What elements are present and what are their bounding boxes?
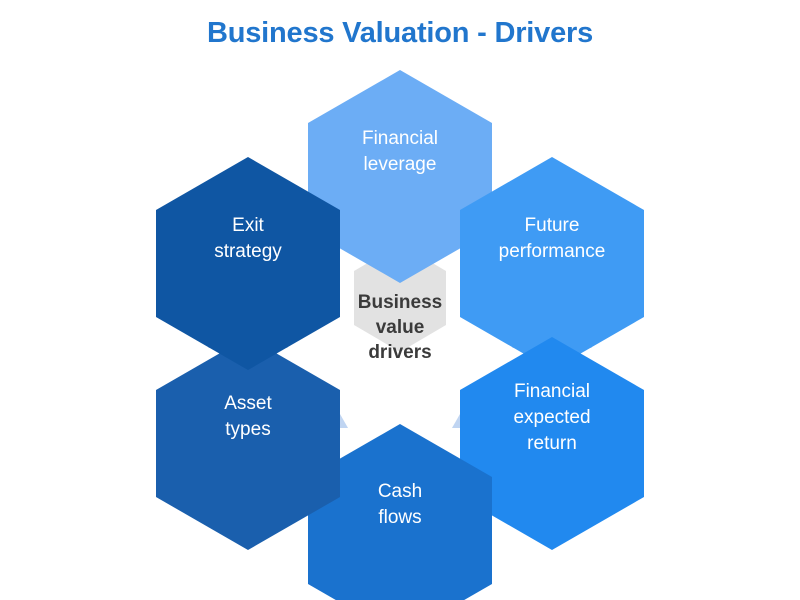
label-financial-expected-return-line-2: expected — [513, 407, 590, 428]
label-exit-strategy-line-2: strategy — [214, 241, 282, 262]
hexagon-diagram: Business value drivers Financial leverag… — [0, 0, 800, 600]
label-financial-leverage-line-2: leverage — [364, 154, 437, 175]
center-line-2: value — [376, 317, 425, 338]
label-asset-types-line-2: types — [225, 419, 270, 440]
label-cash-flows-line-1: Cash — [378, 481, 422, 502]
label-future-performance-line-2: performance — [499, 241, 606, 262]
center-line-1: Business — [358, 292, 442, 313]
label-financial-leverage-line-1: Financial — [362, 128, 438, 149]
label-exit-strategy-line-1: Exit — [232, 215, 264, 236]
center-line-3: drivers — [368, 342, 431, 363]
label-asset-types-line-1: Asset — [224, 393, 272, 414]
label-future-performance-line-1: Future — [525, 215, 580, 236]
diagram-canvas: Business Valuation - Drivers Business va… — [0, 0, 800, 600]
label-cash-flows-line-2: flows — [378, 507, 421, 528]
label-financial-expected-return-line-3: return — [527, 433, 577, 454]
label-financial-expected-return-line-1: Financial — [514, 381, 590, 402]
